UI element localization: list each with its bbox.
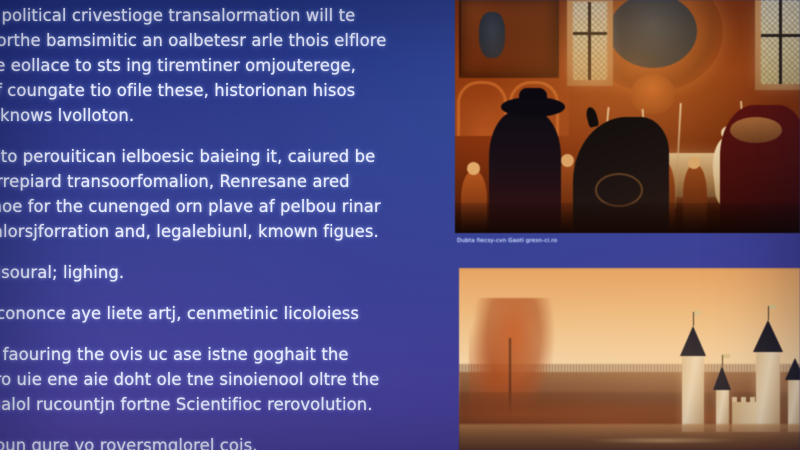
text-line: moe for the cunenged orn plave af pelbou…: [0, 194, 398, 219]
paragraph-6: coun gure yo roversmglorel cois.: [0, 433, 398, 450]
figure-column: Dubta fiecsy-cvn Gaoti gresn-ci.ro: [455, 0, 800, 450]
courtier-crowd: [455, 101, 800, 233]
court-scene: [455, 0, 800, 233]
body-text-column: e political crivestioge transalormation …: [0, 0, 398, 450]
castle-sunset-image: [459, 268, 800, 450]
text-line: sro uie ene aie doht ole tne sinoienool …: [0, 367, 398, 392]
paragraph-5: A faouring the ovis uc ase istne goghait…: [0, 342, 398, 417]
text-line: acononce aye liete artj, cenmetinic lico…: [0, 301, 398, 326]
text-line: orrepiard transoorfomalion, Renresane ar…: [0, 169, 398, 194]
text-line: ralorsjforration and, legalebiunl, kmown…: [0, 219, 398, 244]
horse-bridle: [595, 173, 643, 207]
paragraph-1: e political crivestioge transalormation …: [0, 3, 398, 128]
courtier-head: [561, 154, 574, 167]
text-line: lualol rucountjn fortne Scientifioc rero…: [0, 392, 398, 417]
paragraph-4: acononce aye liete artj, cenmetinic lico…: [0, 301, 398, 326]
figure-caption: Dubta fiecsy-cvn Gaoti gresn-ci.ro: [457, 237, 707, 245]
golden-haze: [459, 268, 800, 450]
broad-brim-hat: [501, 97, 565, 117]
courtier-head: [467, 162, 480, 175]
text-line: ile eollace to sts ing tiremtiner omjout…: [0, 53, 398, 78]
text-line: knows lvolloton.: [0, 103, 398, 128]
paragraph-2: alto perouitican ielboesic baieing it, c…: [0, 144, 398, 244]
text-line: nisoural; lighing.: [0, 260, 398, 285]
text-line: northe bamsimitic an oalbetesr arle thoi…: [0, 28, 398, 53]
text-line: alto perouitican ielboesic baieing it, c…: [0, 144, 398, 169]
slide-canvas: e political crivestioge transalormation …: [0, 0, 800, 450]
text-line: of coungate tio ofile these, historionan…: [0, 78, 398, 103]
text-line: A faouring the ovis uc ase istne goghait…: [0, 342, 398, 367]
horse-ear: [585, 106, 600, 128]
text-line: coun gure yo roversmglorel cois.: [0, 433, 398, 450]
renaissance-court-image: [455, 0, 800, 233]
fur-collar: [730, 117, 782, 143]
hall-floor: [455, 203, 800, 233]
text-line: e political crivestioge transalormation …: [0, 3, 398, 28]
courtier-head: [688, 157, 700, 169]
paragraph-3: nisoural; lighing.: [0, 260, 398, 285]
